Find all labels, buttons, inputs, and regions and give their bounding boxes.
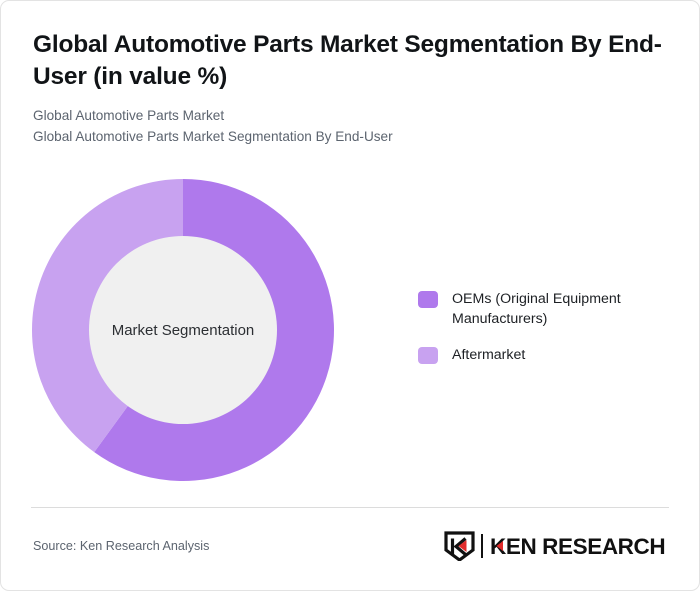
ken-research-logo-svg: KEN RESEARCH <box>443 531 669 561</box>
subtitle-group: Global Automotive Parts Market Global Au… <box>33 106 667 147</box>
ken-research-wordmark: KEN RESEARCH <box>490 534 665 559</box>
legend-item-oems[interactable]: OEMs (Original Equipment Manufacturers) <box>418 289 673 329</box>
legend-swatch-aftermarket <box>418 347 438 364</box>
footer-divider <box>31 507 669 508</box>
chart-legend: OEMs (Original Equipment Manufacturers) … <box>418 289 673 365</box>
chart-footer: Source: Ken Research Analysis KEN RESEAR… <box>33 529 669 563</box>
plot-area: Market Segmentation OEMs (Original Equip… <box>1 169 700 499</box>
page-title: Global Automotive Parts Market Segmentat… <box>33 29 667 93</box>
breadcrumb-market: Global Automotive Parts Market <box>33 106 667 127</box>
donut-hole <box>89 236 277 424</box>
chart-header: Global Automotive Parts Market Segmentat… <box>33 29 667 148</box>
svg-text:KEN RESEARCH: KEN RESEARCH <box>490 534 665 559</box>
logo-separator <box>481 534 483 558</box>
legend-label-aftermarket: Aftermarket <box>452 345 525 365</box>
legend-swatch-oems <box>418 291 438 308</box>
chart-card: Global Automotive Parts Market Segmentat… <box>0 0 700 591</box>
source-text: Source: Ken Research Analysis <box>33 539 209 553</box>
breadcrumb-segmentation: Global Automotive Parts Market Segmentat… <box>33 127 667 148</box>
ken-research-logo: KEN RESEARCH <box>443 531 669 561</box>
donut-svg <box>32 179 334 481</box>
legend-label-oems: OEMs (Original Equipment Manufacturers) <box>452 289 673 329</box>
ken-shield-icon <box>446 533 473 560</box>
legend-item-aftermarket[interactable]: Aftermarket <box>418 345 673 365</box>
donut-chart: Market Segmentation <box>32 179 334 481</box>
